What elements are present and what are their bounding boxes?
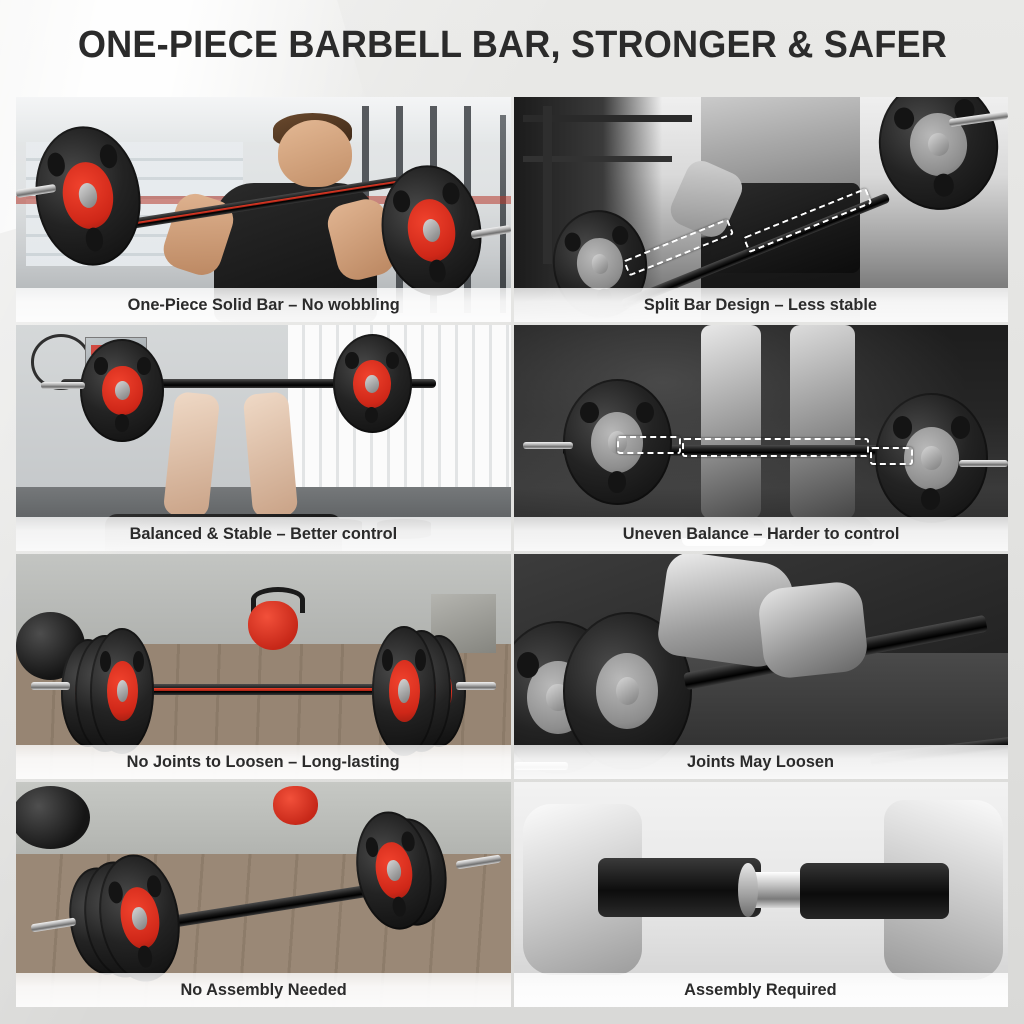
panel-one-piece-solid-bar[interactable]: One-Piece Solid Bar – No wobbling [16,97,511,322]
panel-split-bar-design[interactable]: Split Bar Design – Less stable [514,97,1009,322]
comparison-row: No Assembly Needed Assembly Required [16,782,1008,1007]
caption-text: No Joints to Loosen – Long-lasting [127,752,400,772]
caption-text: One-Piece Solid Bar – No wobbling [127,295,399,315]
page-title: ONE-PIECE BARBELL BAR, STRONGER & SAFER [77,24,946,67]
kettlebell [273,786,318,824]
caption-text: Balanced & Stable – Better control [129,524,397,544]
caption-text: Joints May Loosen [687,752,834,772]
caption-band: Joints May Loosen [514,745,1009,779]
split-segment-marker [682,438,869,457]
caption-band: Uneven Balance – Harder to control [514,517,1009,551]
panel-no-joints-to-loosen[interactable]: No Joints to Loosen – Long-lasting [16,554,511,779]
caption-band: No Joints to Loosen – Long-lasting [16,745,511,779]
caption-band: One-Piece Solid Bar – No wobbling [16,288,511,322]
caption-text: Assembly Required [685,980,837,1000]
infographic-page: ONE-PIECE BARBELL BAR, STRONGER & SAFER [0,0,1024,1024]
bar-half-left [598,858,761,917]
kettlebell [248,601,297,651]
panel-uneven-balance[interactable]: Uneven Balance – Harder to control [514,325,1009,550]
split-segment-marker [870,447,914,465]
comparison-grid: One-Piece Solid Bar – No wobbling [16,97,1008,1007]
caption-text: Split Bar Design – Less stable [644,295,877,315]
comparison-row: No Joints to Loosen – Long-lasting [16,554,1008,779]
bar-half-right [800,863,948,919]
caption-band: No Assembly Needed [16,973,511,1007]
panel-joints-may-loosen[interactable]: Joints May Loosen [514,554,1009,779]
comparison-row: One-Piece Solid Bar – No wobbling [16,97,1008,322]
header-banner: ONE-PIECE BARBELL BAR, STRONGER & SAFER [0,0,1024,90]
panel-no-assembly-needed[interactable]: No Assembly Needed [16,782,511,1007]
caption-band: Assembly Required [514,973,1009,1007]
split-segment-marker [617,436,680,454]
comparison-row: Balanced & Stable – Better control [16,325,1008,550]
caption-band: Split Bar Design – Less stable [514,288,1009,322]
panel-assembly-required[interactable]: Assembly Required [514,782,1009,1007]
panel-balanced-stable[interactable]: Balanced & Stable – Better control [16,325,511,550]
caption-text: Uneven Balance – Harder to control [622,524,899,544]
caption-band: Balanced & Stable – Better control [16,517,511,551]
caption-text: No Assembly Needed [180,980,346,1000]
